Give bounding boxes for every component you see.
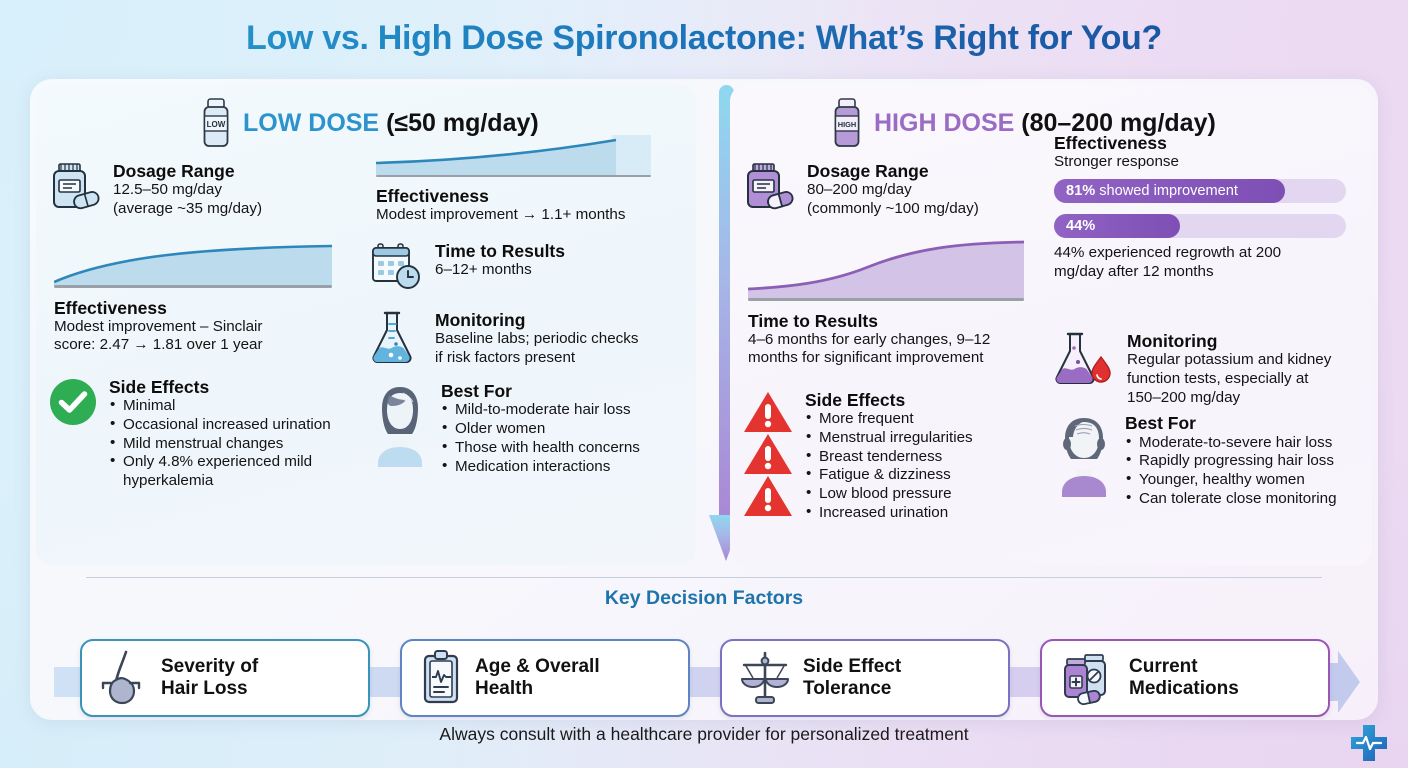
list-item: Low blood pressure (805, 485, 1048, 504)
high-side-effects-row: Side Effects More frequentMenstrual irre… (742, 390, 1048, 522)
clipboard-health-icon (419, 650, 463, 706)
section-divider (86, 577, 1322, 578)
low-dose-panel: LOW LOW DOSE (≤50 mg/day) (36, 85, 696, 565)
list-item: Medication interactions (441, 458, 686, 477)
low-dosage-line2: (average ~35 mg/day) (113, 200, 366, 219)
low-dosage-heading: Dosage Range (113, 161, 366, 181)
low-side-effects-row: Side Effects MinimalOccasional increased… (48, 377, 366, 491)
list-item: Younger, healthy women (1125, 471, 1360, 490)
list-item: Increased urination (805, 504, 1048, 523)
list-item: Those with health concerns (441, 439, 686, 458)
warning-triangle-icon (742, 390, 794, 522)
high-regrowth-note2: mg/day after 12 months (1054, 263, 1360, 282)
high-effectiveness-line1: Stronger response (1054, 153, 1360, 172)
low-effectiveness-right-line1: Modest improvement → 1.1+ months (376, 206, 686, 225)
decision-card-severity[interactable]: Severity of Hair Loss (80, 639, 370, 717)
high-dosage-line2: (commonly ~100 mg/day) (807, 200, 1048, 219)
decision-card-label: Severity of Hair Loss (161, 656, 258, 699)
high-dosage-heading: Dosage Range (807, 161, 1048, 181)
low-effectiveness-line1: Modest improvement – Sinclair (54, 318, 366, 337)
high-side-effects-heading: Side Effects (805, 390, 1048, 410)
woman-avatar-icon (370, 381, 430, 476)
list-item: Fatigue & dizziness (805, 466, 1048, 485)
medicine-bottle-icon (742, 161, 796, 219)
low-improvement-chart (376, 135, 651, 177)
decision-card-side-effect-tolerance[interactable]: Side Effect Tolerance (720, 639, 1010, 717)
low-effectiveness-heading: Effectiveness (54, 298, 366, 318)
low-dosage-row: Dosage Range 12.5–50 mg/day (average ~35… (48, 161, 366, 219)
list-item: Only 4.8% experienced mild hyperkalemia (109, 453, 366, 490)
low-side-effects-list: MinimalOccasional increased urinationMil… (109, 397, 366, 490)
chart-baseline (376, 175, 651, 178)
hair-follicle-icon (99, 650, 149, 706)
low-dose-title: LOW DOSE (≤50 mg/day) (243, 109, 539, 138)
list-item: Mild-to-moderate hair loss (441, 401, 686, 420)
high-time-line2: months for significant improvement (748, 349, 1048, 368)
svg-text:LOW: LOW (207, 120, 226, 129)
flask-icon (370, 310, 424, 368)
high-dose-panel: HIGH HIGH DOSE (80–200 mg/day) (730, 85, 1372, 565)
regrowth-progress-bar: 44% (1054, 214, 1346, 238)
list-item: Mild menstrual changes (109, 435, 366, 454)
low-monitoring-line1: Baseline labs; periodic checks (435, 330, 686, 349)
calendar-clock-icon (370, 241, 424, 291)
list-item: Older women (441, 420, 686, 439)
high-best-for-list: Moderate-to-severe hair lossRapidly prog… (1125, 434, 1360, 509)
list-item: Menstrual irregularities (805, 429, 1048, 448)
low-monitoring-row: Monitoring Baseline labs; periodic check… (370, 310, 686, 368)
high-monitoring-line1: Regular potassium and kidney (1127, 351, 1360, 370)
high-best-for-row: Best For Moderate-to-severe hair lossRap… (1054, 413, 1360, 508)
svg-text:HIGH: HIGH (838, 120, 856, 129)
list-item: Rapidly progressing hair loss (1125, 452, 1360, 471)
low-best-for-heading: Best For (441, 381, 686, 401)
decision-card-current-medications[interactable]: Current Medications (1040, 639, 1330, 717)
high-time-block: Time to Results 4–6 months for early cha… (748, 311, 1048, 369)
list-item: Minimal (109, 397, 366, 416)
balance-scale-icon (739, 649, 791, 707)
decision-card-label: Side Effect Tolerance (803, 656, 901, 699)
low-time-heading: Time to Results (435, 241, 686, 261)
low-effectiveness-right-heading: Effectiveness (376, 186, 686, 206)
low-dosage-line1: 12.5–50 mg/day (113, 181, 366, 200)
decision-card-label: Current Medications (1129, 656, 1239, 699)
decision-cards: Severity of Hair Loss Age & Overall (30, 639, 1378, 720)
low-best-for-row: Best For Mild-to-moderate hair lossOlder… (370, 381, 686, 476)
high-response-chart (748, 237, 1024, 301)
low-monitoring-heading: Monitoring (435, 310, 686, 330)
page-title: Low vs. High Dose Spironolactone: What’s… (0, 0, 1408, 58)
low-effectiveness-right: Effectiveness Modest improvement → 1.1+ … (376, 186, 686, 225)
list-item: Occasional increased urination (109, 416, 366, 435)
high-dosage-line1: 80–200 mg/day (807, 181, 1048, 200)
comparison-panels: LOW LOW DOSE (≤50 mg/day) (30, 79, 1378, 571)
list-item: More frequent (805, 410, 1048, 429)
improvement-progress-bar: 81% showed improvement (1054, 179, 1346, 203)
high-time-line1: 4–6 months for early changes, 9–12 (748, 331, 1048, 350)
low-best-for-list: Mild-to-moderate hair lossOlder womenTho… (441, 401, 686, 476)
green-check-icon (48, 377, 98, 491)
infographic-board: LOW LOW DOSE (≤50 mg/day) (30, 79, 1378, 720)
low-effectiveness-chart (54, 240, 332, 288)
high-time-heading: Time to Results (748, 311, 1048, 331)
pill-bottle-low-icon: LOW (199, 97, 233, 149)
high-effectiveness-block: Effectiveness Stronger response 81% show… (1054, 133, 1360, 281)
high-best-for-heading: Best For (1125, 413, 1360, 433)
low-side-effects-heading: Side Effects (109, 377, 366, 397)
high-effectiveness-heading: Effectiveness (1054, 133, 1360, 153)
low-effectiveness-left: Effectiveness Modest improvement – Sincl… (54, 298, 366, 356)
high-regrowth-note1: 44% experienced regrowth at 200 (1054, 244, 1360, 263)
bar-label: 44% (1066, 214, 1099, 238)
low-effectiveness-line2: score: 2.47 → 1.81 over 1 year (54, 336, 366, 355)
list-item: Moderate-to-severe hair loss (1125, 434, 1360, 453)
medications-icon (1059, 649, 1117, 707)
high-monitoring-heading: Monitoring (1127, 331, 1360, 351)
pill-bottle-high-icon: HIGH (830, 97, 864, 149)
high-monitoring-row: Monitoring Regular potassium and kidney … (1054, 331, 1360, 407)
low-time-line1: 6–12+ months (435, 261, 686, 280)
flask-blood-icon (1054, 331, 1116, 407)
key-decision-strip: Severity of Hair Loss Age & Overall (30, 639, 1378, 720)
list-item: Can tolerate close monitoring (1125, 490, 1360, 509)
low-time-row: Time to Results 6–12+ months (370, 241, 686, 291)
high-side-effects-list: More frequentMenstrual irregularitiesBre… (805, 410, 1048, 522)
bar-label: 81% showed improvement (1066, 179, 1238, 203)
man-avatar-icon (1054, 413, 1114, 508)
footer-note: Always consult with a healthcare provide… (0, 724, 1408, 745)
decision-card-label: Age & Overall Health (475, 656, 600, 699)
high-monitoring-line2: function tests, especially at (1127, 370, 1360, 389)
key-decision-title: Key Decision Factors (30, 587, 1378, 610)
high-dosage-row: Dosage Range 80–200 mg/day (commonly ~10… (742, 161, 1048, 219)
medicine-bottle-icon (48, 161, 102, 219)
low-monitoring-line2: if risk factors present (435, 349, 686, 368)
chart-baseline (748, 298, 1024, 301)
decision-card-age-health[interactable]: Age & Overall Health (400, 639, 690, 717)
high-monitoring-line3: 150–200 mg/day (1127, 389, 1360, 408)
chart-baseline (54, 285, 332, 288)
list-item: Breast tenderness (805, 448, 1048, 467)
medical-cross-icon (1348, 722, 1390, 764)
